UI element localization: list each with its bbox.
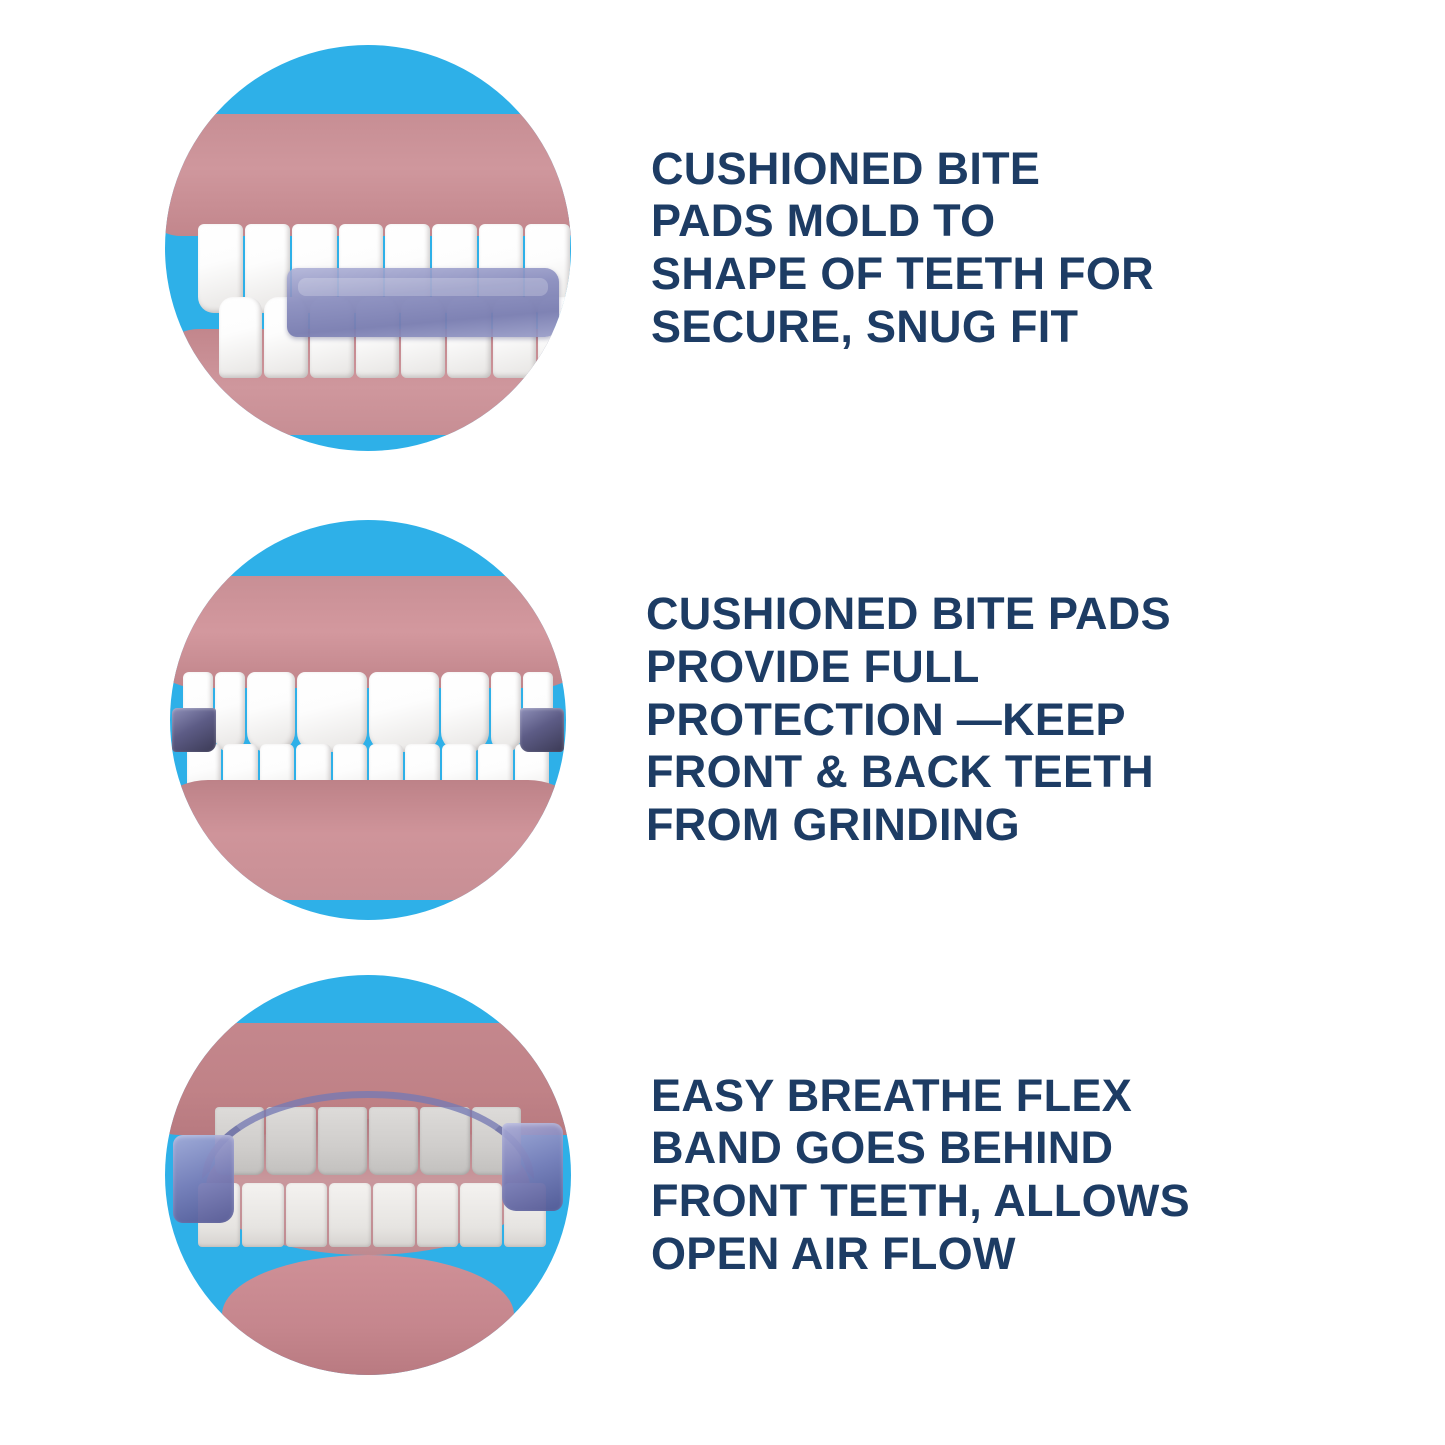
upper-teeth-row bbox=[182, 672, 554, 752]
bite-pad-right bbox=[520, 708, 564, 752]
feature-1-text: CUSHIONED BITE PADS MOLD TO SHAPE OF TEE… bbox=[651, 143, 1445, 354]
lower-teeth-row-lingual bbox=[197, 1183, 546, 1247]
upper-gum bbox=[165, 114, 571, 236]
feature-row-1: CUSHIONED BITE PADS MOLD TO SHAPE OF TEE… bbox=[0, 38, 1445, 458]
bite-pad-left bbox=[173, 1135, 234, 1223]
circle-background-2 bbox=[170, 520, 566, 920]
tooth bbox=[297, 672, 367, 752]
tooth bbox=[286, 1183, 328, 1247]
circle-background-3 bbox=[165, 975, 571, 1375]
infographic-board: CUSHIONED BITE PADS MOLD TO SHAPE OF TEE… bbox=[0, 0, 1445, 1445]
bite-pad-left bbox=[172, 708, 216, 752]
lower-gum bbox=[170, 780, 566, 900]
tooth bbox=[491, 672, 521, 752]
tooth bbox=[460, 1183, 502, 1247]
circle-background-1 bbox=[165, 45, 571, 451]
tongue bbox=[222, 1255, 514, 1375]
tooth bbox=[329, 1183, 371, 1247]
illustration-lingual-view-flex-band bbox=[165, 975, 571, 1375]
tooth bbox=[215, 672, 245, 752]
feature-row-3: EASY BREATHE FLEX BAND GOES BEHIND FRONT… bbox=[0, 975, 1445, 1375]
tooth bbox=[242, 1183, 284, 1247]
tooth bbox=[417, 1183, 459, 1247]
tooth bbox=[247, 672, 295, 752]
feature-2-text: CUSHIONED BITE PADS PROVIDE FULL PROTECT… bbox=[646, 588, 1445, 851]
illustration-front-view-teeth-with-bite-pads bbox=[170, 520, 566, 920]
tooth bbox=[441, 672, 489, 752]
tooth bbox=[373, 1183, 415, 1247]
tooth bbox=[219, 297, 263, 378]
bite-pad-right bbox=[502, 1123, 563, 1211]
illustration-side-view-mouthguard-between-teeth bbox=[165, 45, 571, 451]
tooth bbox=[369, 672, 439, 752]
mouthguard-bite-pad bbox=[287, 268, 559, 337]
feature-row-2: CUSHIONED BITE PADS PROVIDE FULL PROTECT… bbox=[0, 520, 1445, 920]
feature-3-text: EASY BREATHE FLEX BAND GOES BEHIND FRONT… bbox=[651, 1070, 1445, 1281]
